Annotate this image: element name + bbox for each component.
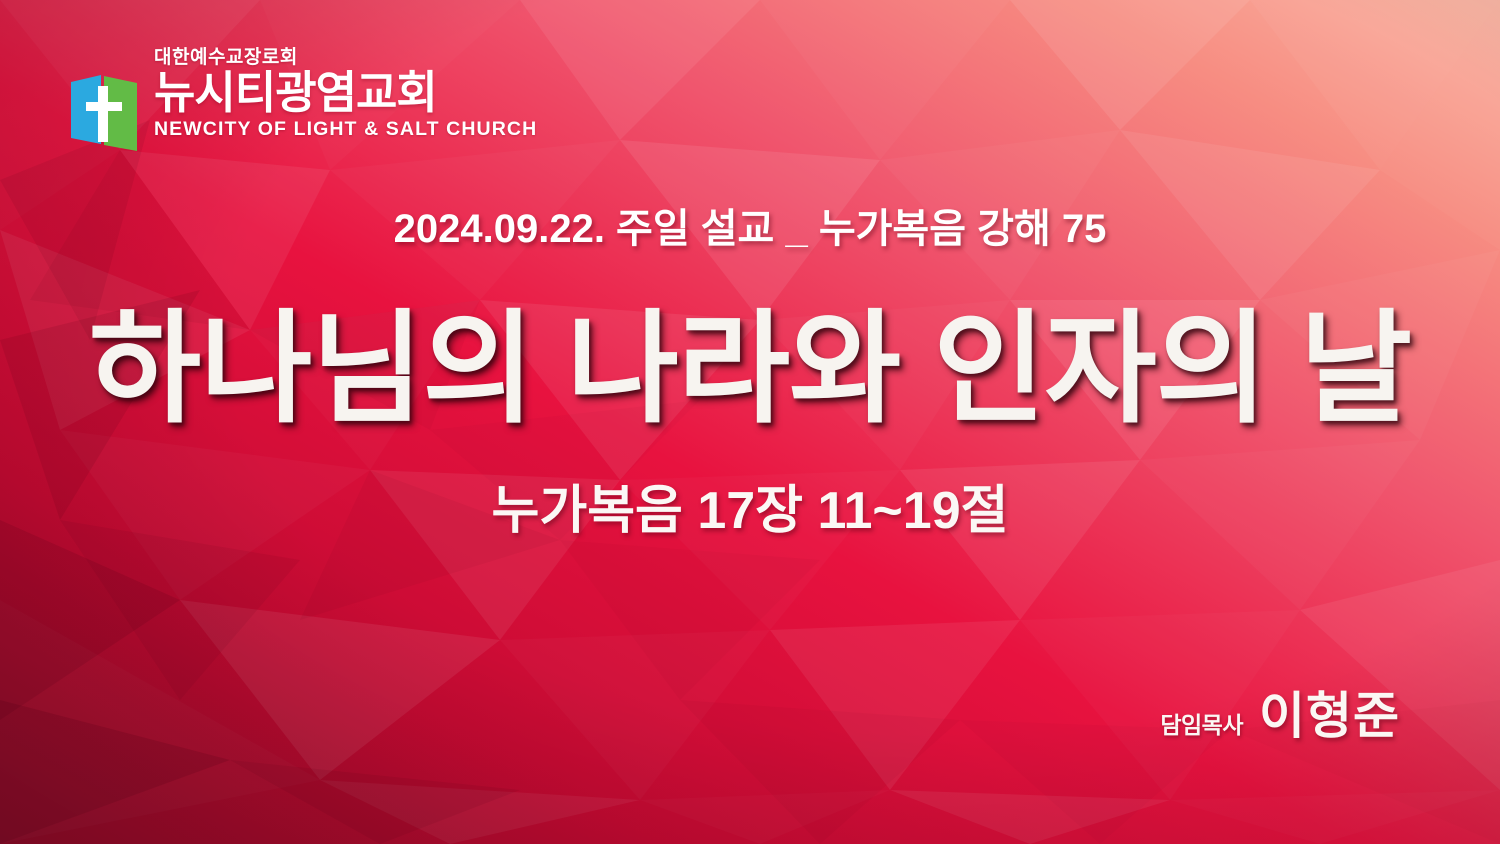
church-logo-lockup: 대한예수교장로회 뉴시티광염교회 NEWCITY OF LIGHT & SALT…	[68, 48, 537, 154]
sermon-meta-line: 2024.09.22. 주일 설교 _ 누가복음 강해 75	[394, 206, 1107, 252]
sermon-scripture-reference: 누가복음 17장 11~19절	[492, 482, 1009, 542]
preacher-credit: 담임목사 이형준	[1160, 676, 1400, 748]
preacher-name: 이형준	[1259, 676, 1400, 748]
logo-denomination: 대한예수교장로회	[154, 48, 298, 69]
logo-text-block: 대한예수교장로회 뉴시티광염교회 NEWCITY OF LIGHT & SALT…	[154, 48, 537, 140]
logo-church-name-ko: 뉴시티광염교회	[154, 70, 437, 115]
slide-canvas: 대한예수교장로회 뉴시티광염교회 NEWCITY OF LIGHT & SALT…	[0, 0, 1500, 844]
sermon-center-block: 2024.09.22. 주일 설교 _ 누가복음 강해 75 하나님의 나라와 …	[0, 206, 1500, 542]
preacher-role: 담임목사	[1160, 706, 1243, 740]
open-book-cross-icon	[68, 72, 140, 154]
sermon-title: 하나님의 나라와 인자의 날	[89, 304, 1411, 436]
logo-church-name-en: NEWCITY OF LIGHT & SALT CHURCH	[154, 119, 537, 140]
